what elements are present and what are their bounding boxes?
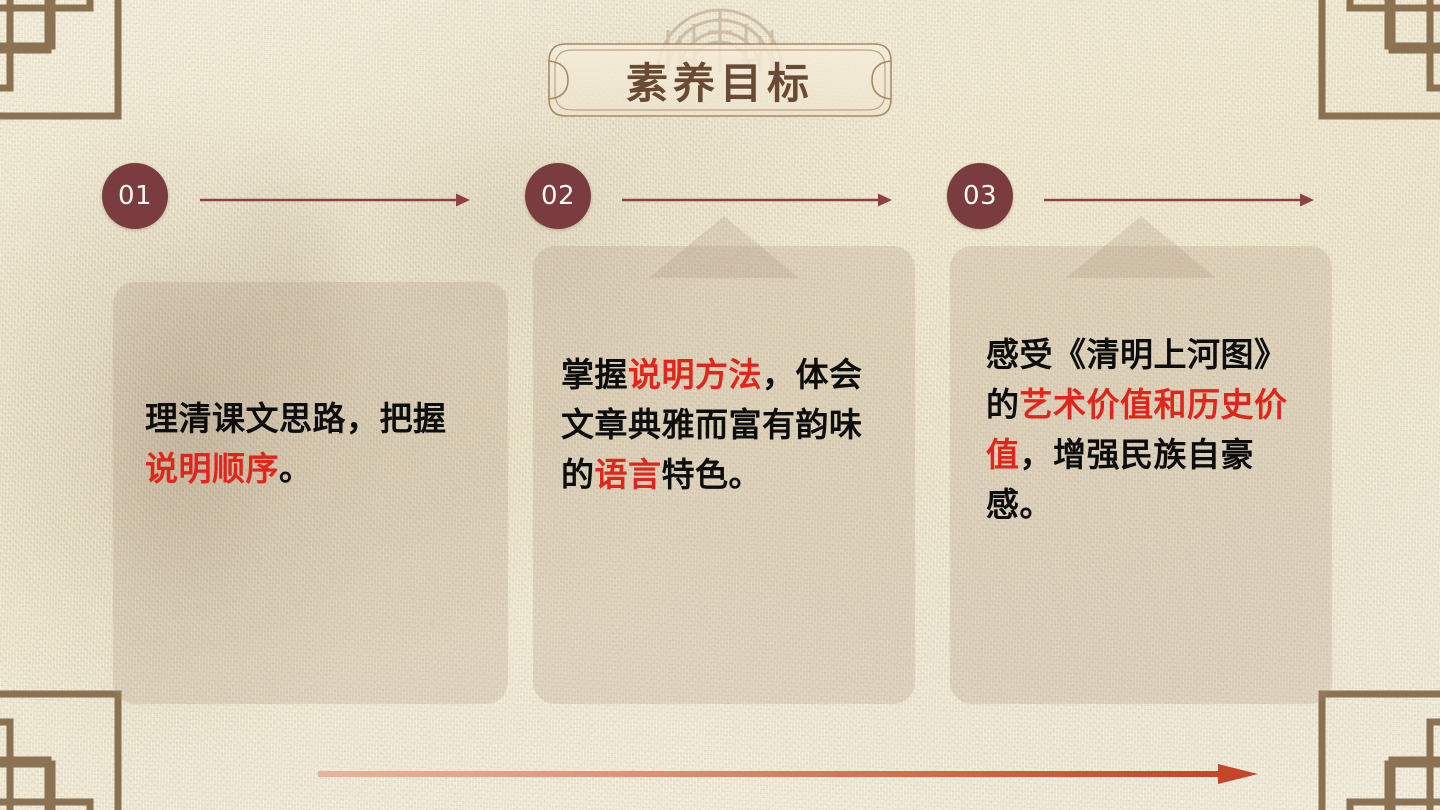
objective-card-03[interactable]: 感受《清明上河图》的艺术价值和历史价值，增强民族自豪感。 [950,246,1332,704]
objective-card-02[interactable]: 掌握说明方法，体会文章典雅而富有韵味的语言特色。 [533,246,915,704]
highlighted-phrase: 说明方法 [628,355,762,394]
highlighted-phrase: 语言 [595,455,662,494]
title-banner: 素养目标 [0,16,1440,120]
slide-canvas: 素养目标 01 02 03 [0,0,1440,810]
bottom-progress-arrow-icon [318,762,1258,790]
card-text-01: 理清课文思路，把握说明顺序。 [127,394,494,494]
banner-plaque: 素养目标 [549,44,891,116]
arrow-right-icon [1044,191,1314,213]
page-title: 素养目标 [549,44,891,116]
step-marker-03[interactable]: 03 [947,163,1013,229]
card-text-02: 掌握说明方法，体会文章典雅而富有韵味的语言特色。 [543,350,905,500]
plain-phrase: ，增强民族自豪感。 [986,435,1254,524]
step-marker-01[interactable]: 01 [102,163,168,229]
arrow-right-icon [622,191,892,213]
step-marker-02[interactable]: 02 [525,163,591,229]
plain-phrase: 掌握 [561,355,628,394]
step-badge-label: 03 [947,163,1013,229]
plain-phrase: 。 [279,449,313,488]
step-badge-label: 01 [102,163,168,229]
card-text-03: 感受《清明上河图》的艺术价值和历史价值，增强民族自豪感。 [968,330,1322,531]
arrow-right-icon [200,191,470,213]
plain-phrase: 特色。 [662,455,763,494]
plain-phrase: 理清课文思路，把握 [145,399,447,438]
step-badge-label: 02 [525,163,591,229]
highlighted-phrase: 说明顺序 [145,449,279,488]
objective-card-01[interactable]: 理清课文思路，把握说明顺序。 [113,282,508,704]
